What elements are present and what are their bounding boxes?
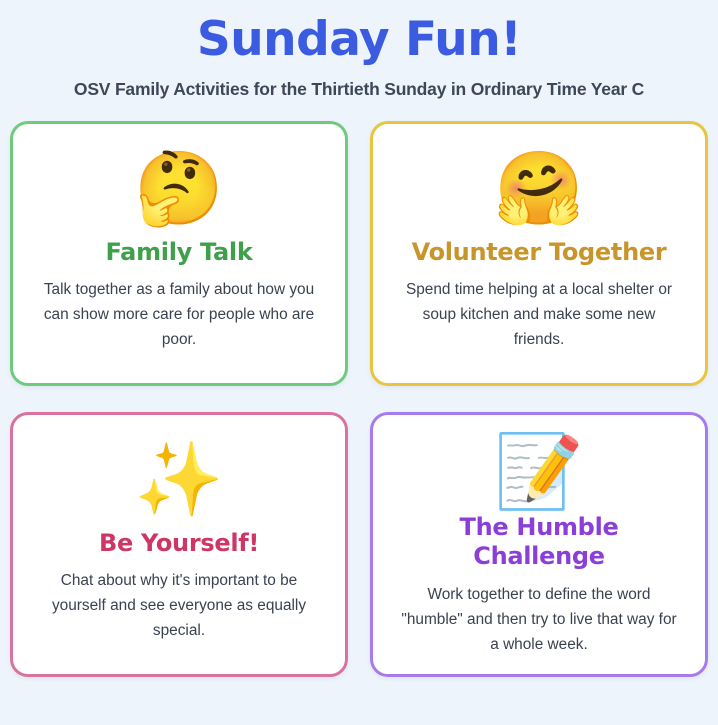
activity-card-text: Spend time helping at a local shelter or… [397, 278, 682, 353]
page-title: Sunday Fun! [10, 14, 708, 67]
activity-card-grid: 🤔 Family Talk Talk together as a family … [10, 121, 708, 677]
sunday-fun-page: Sunday Fun! OSV Family Activities for th… [0, 0, 718, 725]
page-header: Sunday Fun! OSV Family Activities for th… [10, 0, 708, 101]
page-subtitle: OSV Family Activities for the Thirtieth … [10, 79, 708, 101]
sparkles-emoji: ✨ [134, 433, 224, 525]
hugging-face-emoji: 🤗 [494, 142, 584, 234]
activity-card-title: Be Yourself! [99, 529, 259, 558]
thinking-face-emoji: 🤔 [134, 142, 224, 234]
activity-card-title: Volunteer Together [412, 238, 667, 267]
activity-card-be-yourself[interactable]: ✨ Be Yourself! Chat about why it's impor… [10, 412, 348, 677]
activity-card-humble-challenge[interactable]: 📝 The Humble Challenge Work together to … [370, 412, 708, 677]
activity-card-volunteer-together[interactable]: 🤗 Volunteer Together Spend time helping … [370, 121, 708, 386]
activity-card-text: Chat about why it's important to be your… [37, 569, 322, 644]
activity-card-title: The Humble Challenge [393, 513, 685, 571]
memo-pencil-emoji: 📝 [494, 433, 584, 510]
activity-card-text: Talk together as a family about how you … [37, 278, 322, 353]
activity-card-title: Family Talk [105, 238, 252, 267]
activity-card-family-talk[interactable]: 🤔 Family Talk Talk together as a family … [10, 121, 348, 386]
activity-card-text: Work together to define the word "humble… [397, 583, 682, 658]
